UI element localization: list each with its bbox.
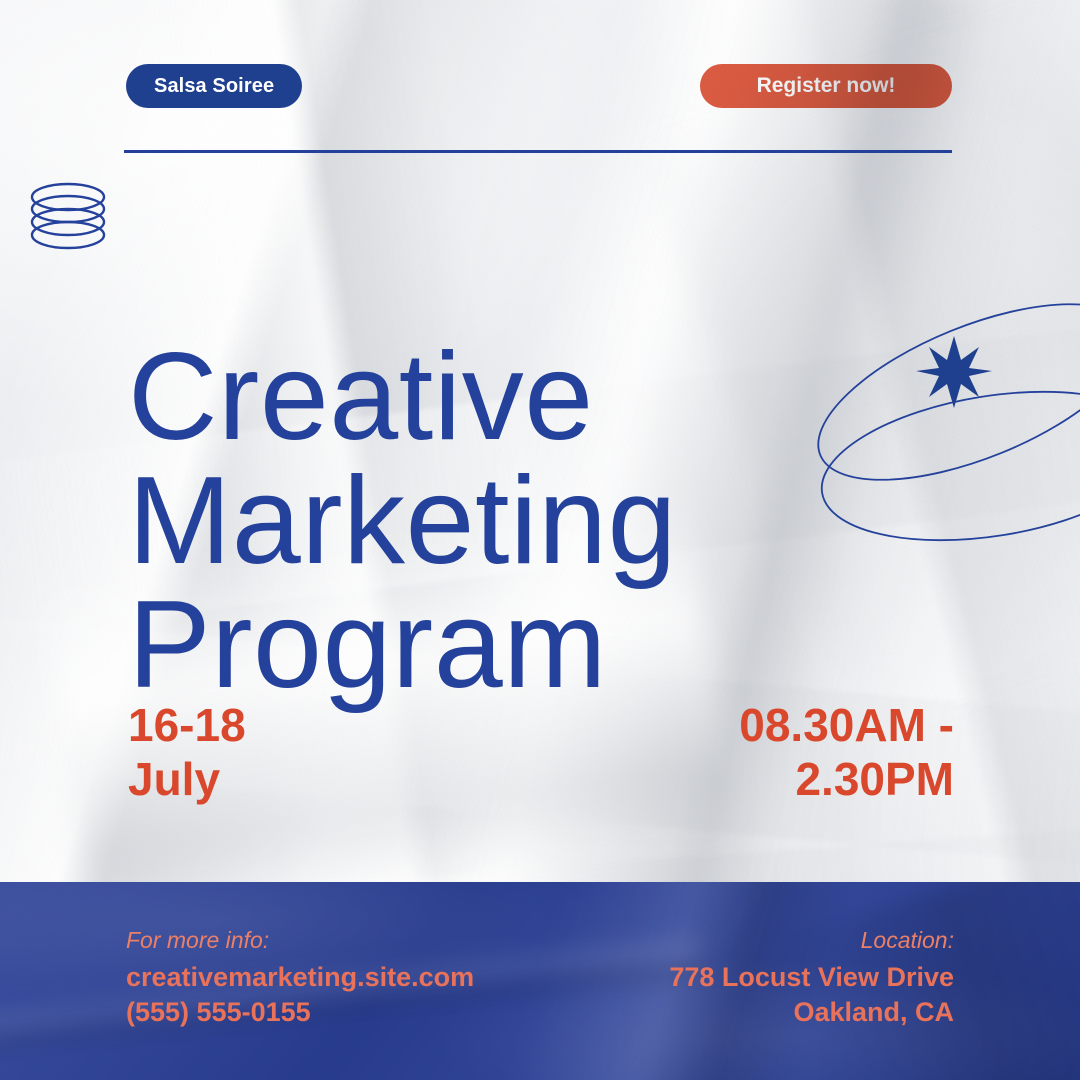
register-now-button-label: Register now!	[757, 74, 896, 98]
stacked-ellipses-cylinder-icon	[26, 181, 110, 255]
event-name-badge: Salsa Soiree	[126, 64, 302, 108]
event-times-line-1: 08.30AM -	[739, 698, 954, 752]
event-dates-line-2: July	[128, 752, 246, 806]
phone-number[interactable]: (555) 555-0155	[126, 995, 474, 1031]
website-link[interactable]: creativemarketing.site.com	[126, 960, 474, 996]
address-line-2: Oakland, CA	[669, 995, 954, 1031]
page-title: Creative Marketing Program	[128, 335, 828, 707]
location-block: Location: 778 Locust View Drive Oakland,…	[669, 926, 954, 1031]
event-poster: Salsa Soiree Register now! Creative Mark…	[0, 0, 1080, 1080]
contact-info-block: For more info: creativemarketing.site.co…	[126, 926, 474, 1031]
event-name-badge-label: Salsa Soiree	[154, 75, 274, 98]
footer-band: For more info: creativemarketing.site.co…	[0, 882, 1080, 1080]
event-dates: 16-18 July	[128, 698, 246, 807]
address-line-1: 778 Locust View Drive	[669, 960, 954, 996]
register-now-button[interactable]: Register now!	[700, 64, 952, 108]
event-times: 08.30AM - 2.30PM	[739, 698, 954, 807]
stacked-ellipses-cylinder-logo	[26, 181, 110, 255]
contact-info-label: For more info:	[126, 926, 474, 955]
event-dates-line-1: 16-18	[128, 698, 246, 752]
location-label: Location:	[669, 926, 954, 955]
header-divider	[124, 150, 952, 153]
page-title-line-2: Marketing	[128, 459, 828, 583]
page-title-line-3: Program	[128, 583, 828, 707]
page-title-line-1: Creative	[128, 335, 828, 459]
event-times-line-2: 2.30PM	[739, 752, 954, 806]
